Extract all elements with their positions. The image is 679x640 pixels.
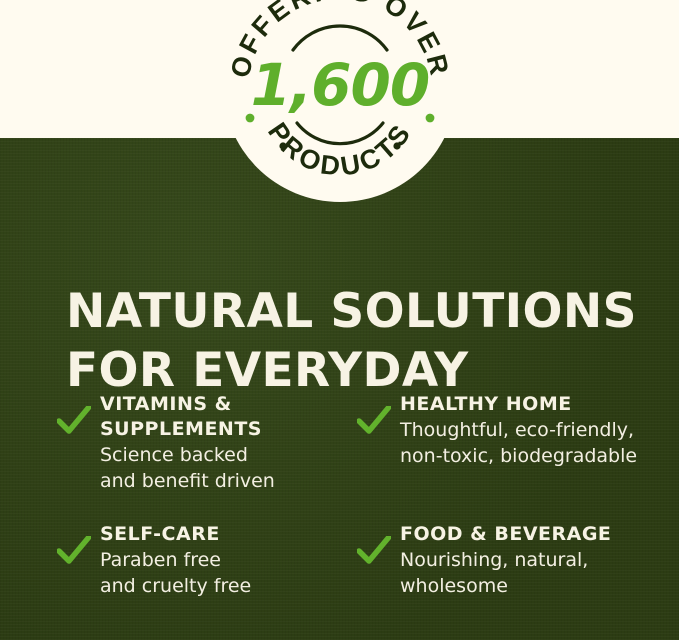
- checkmark-icon: [357, 536, 391, 566]
- feature-item-vitamins-supplements: VITAMINS & SUPPLEMENTS Science backed an…: [55, 392, 355, 522]
- checkmark-icon: [57, 536, 91, 566]
- feature-description: Thoughtful, eco-friendly, non-toxic, bio…: [400, 418, 655, 469]
- badge-product-count: 1,600: [223, 56, 457, 114]
- badge-bottom-arc-label: PRODUCTS: [262, 117, 418, 182]
- feature-item-self-care: SELF-CARE Paraben free and cruelty free: [55, 522, 355, 640]
- feature-description: Science backed and benefit driven: [100, 443, 355, 494]
- feature-description: Nourishing, natural, wholesome: [400, 548, 655, 599]
- feature-list: VITAMINS & SUPPLEMENTS Science backed an…: [55, 392, 655, 640]
- page-title: NATURAL SOLUTIONS FOR EVERYDAY: [66, 283, 646, 400]
- badge-dot-lower-right-icon: [393, 142, 400, 149]
- checkmark-icon: [57, 406, 91, 436]
- feature-title: FOOD & BEVERAGE: [400, 522, 655, 547]
- feature-item-healthy-home: HEALTHY HOME Thoughtful, eco-friendly, n…: [355, 392, 655, 522]
- product-count-badge: OFFERING OVER PRODUCTS 1,600: [223, 0, 457, 202]
- checkmark-icon: [357, 406, 391, 436]
- badge-dot-lower-left-icon: [279, 142, 286, 149]
- feature-title: SELF-CARE: [100, 522, 355, 547]
- feature-title: VITAMINS & SUPPLEMENTS: [100, 392, 355, 442]
- promo-banner: OFFERING OVER PRODUCTS 1,600 NATURAL SOL…: [0, 0, 679, 640]
- headline-line-1: NATURAL SOLUTIONS: [66, 283, 646, 341]
- feature-item-food-beverage: FOOD & BEVERAGE Nourishing, natural, who…: [355, 522, 655, 640]
- badge-inner-arc-bottom-icon: [297, 123, 383, 144]
- feature-title: HEALTHY HOME: [400, 392, 655, 417]
- badge-inner-arc-top-icon: [293, 26, 387, 50]
- feature-description: Paraben free and cruelty free: [100, 548, 355, 599]
- badge-bottom-arc-textpath: PRODUCTS: [262, 117, 418, 182]
